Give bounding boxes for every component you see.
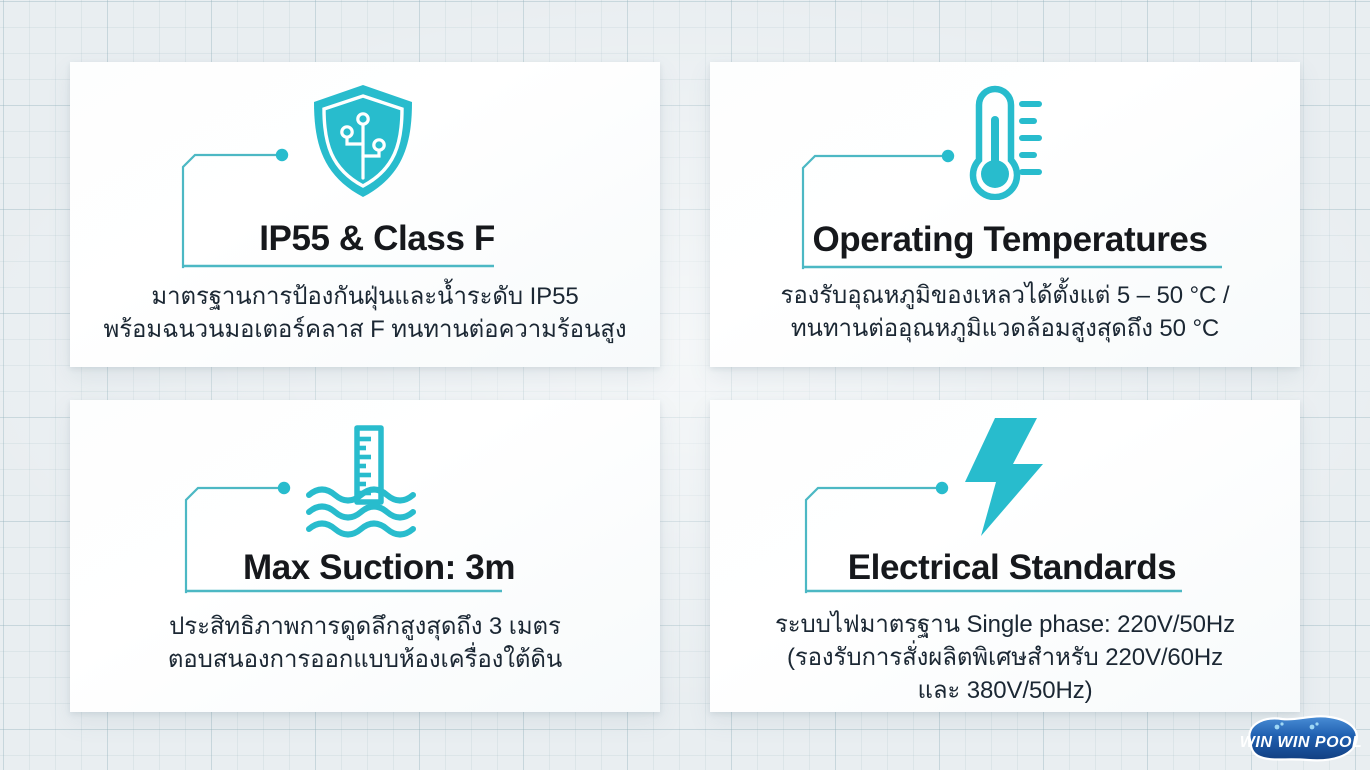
lightning-bolt-icon [938,418,1068,536]
water-depth-ruler-icon [298,422,428,540]
feature-card-operating-temperatures: Operating Temperatures รองรับอุณหภูมิของ… [710,62,1300,367]
logo-word-1: WIN [1240,734,1273,751]
card-desc-line: ประสิทธิภาพการดูดลึกสูงสุดถึง 3 เมตร [70,610,660,643]
card-desc-line: (รองรับการสั่งผลิตพิเศษสำหรับ 220V/60Hz [710,641,1300,674]
card-title-ip55-class-f: IP55 & Class F [70,219,660,259]
card-desc-line: พร้อมฉนวนมอเตอร์คลาส F ทนทานต่อความร้อนส… [70,313,660,346]
card-description-operating-temperatures: รองรับอุณหภูมิของเหลวได้ตั้งแต่ 5 – 50 °… [710,279,1300,345]
logo-word-2: WIN [1277,734,1310,751]
connector-dot-3 [278,482,290,494]
card-desc-line: และ 380V/50Hz) [710,674,1300,707]
logo-word-3: POOL [1315,734,1362,751]
card-desc-line: ทนทานต่ออุณหภูมิแวดล้อมสูงสุดถึง 50 °C [710,312,1300,345]
connector-dot-1 [276,149,288,161]
card-title-max-suction: Max Suction: 3m [70,548,660,588]
thermometer-ticks [1022,104,1039,172]
card-desc-line: รองรับอุณหภูมิของเหลวได้ตั้งแต่ 5 – 50 °… [710,279,1300,312]
feature-card-max-suction: Max Suction: 3m ประสิทธิภาพการดูดลึกสูงส… [70,400,660,712]
feature-card-grid: IP55 & Class F มาตรฐานการป้องกันฝุ่นและน… [0,0,1370,770]
card-description-electrical-standards: ระบบไฟมาตรฐาน Single phase: 220V/50Hz (ร… [710,608,1300,707]
thermometer-icon [932,82,1062,200]
card-title-operating-temperatures: Operating Temperatures [710,220,1300,260]
card-desc-line: ระบบไฟมาตรฐาน Single phase: 220V/50Hz [710,608,1300,641]
feature-card-electrical-standards: Electrical Standards ระบบไฟมาตรฐาน Singl… [710,400,1300,712]
water-waves [309,490,413,535]
shield-circuit-icon [298,82,428,200]
card-title-electrical-standards: Electrical Standards [710,548,1300,588]
card-description-ip55-class-f: มาตรฐานการป้องกันฝุ่นและน้ำระดับ IP55 พร… [70,280,660,346]
card-desc-line: ตอบสนองการออกแบบห้องเครื่องใต้ดิน [70,643,660,676]
card-description-max-suction: ประสิทธิภาพการดูดลึกสูงสุดถึง 3 เมตร ตอบ… [70,610,660,676]
win-win-pool-logo[interactable]: WIN WIN POOL [1236,710,1366,766]
card-desc-line: มาตรฐานการป้องกันฝุ่นและน้ำระดับ IP55 [70,280,660,313]
logo-wordmark: WIN WIN POOL [1240,734,1362,751]
feature-card-ip55-class-f: IP55 & Class F มาตรฐานการป้องกันฝุ่นและน… [70,62,660,367]
